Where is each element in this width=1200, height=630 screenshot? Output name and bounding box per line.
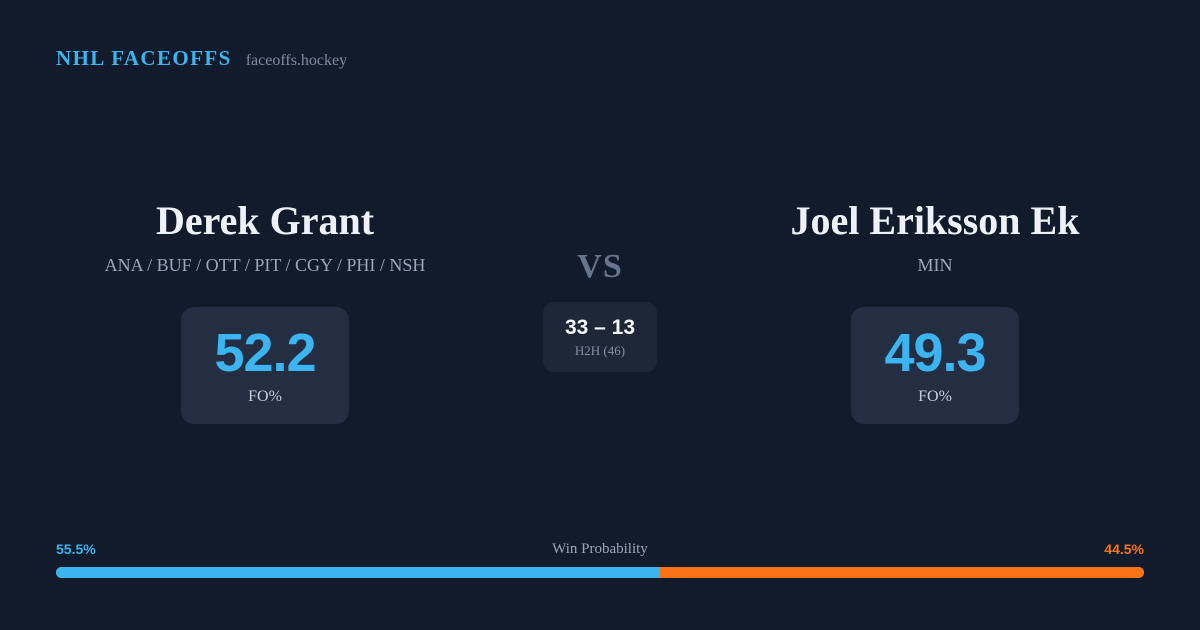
player-teams-left: ANA / BUF / OTT / PIT / CGY / PHI / NSH — [105, 252, 426, 278]
player-name-left: Derek Grant — [156, 196, 374, 246]
stat-label-left: FO% — [248, 387, 282, 407]
matchup-section: Derek Grant ANA / BUF / OTT / PIT / CGY … — [0, 196, 1200, 424]
player-teams-right: MIN — [918, 252, 953, 278]
stat-card-left: 52.2 FO% — [181, 307, 349, 424]
win-probability-bar-right-segment — [660, 567, 1144, 578]
faceoff-percentage-left: 52.2 — [214, 325, 315, 381]
player-card-right: Joel Eriksson Ek MIN 49.3 FO% — [700, 196, 1170, 424]
stat-card-right: 49.3 FO% — [851, 307, 1019, 424]
player-card-left: Derek Grant ANA / BUF / OTT / PIT / CGY … — [30, 196, 500, 424]
versus-column: VS 33 – 13 H2H (46) — [500, 196, 700, 372]
head-to-head-label: H2H (46) — [575, 343, 625, 359]
player-name-right: Joel Eriksson Ek — [791, 196, 1080, 246]
win-probability-section: 55.5% Win Probability 44.5% — [56, 540, 1144, 578]
faceoff-percentage-right: 49.3 — [884, 325, 985, 381]
win-probability-right-value: 44.5% — [1104, 540, 1144, 558]
head-to-head-record: 33 – 13 — [565, 316, 635, 340]
stat-label-right: FO% — [918, 387, 952, 407]
win-probability-labels: 55.5% Win Probability 44.5% — [56, 540, 1144, 558]
win-probability-title: Win Probability — [56, 540, 1144, 558]
win-probability-bar — [56, 567, 1144, 578]
site-header: NHL FACEOFFS faceoffs.hockey — [56, 46, 347, 71]
head-to-head-box: 33 – 13 H2H (46) — [543, 302, 657, 372]
brand-domain-label: faceoffs.hockey — [246, 52, 347, 70]
brand-title[interactable]: NHL FACEOFFS — [56, 46, 232, 71]
win-probability-bar-left-segment — [56, 567, 660, 578]
versus-label: VS — [577, 248, 622, 286]
